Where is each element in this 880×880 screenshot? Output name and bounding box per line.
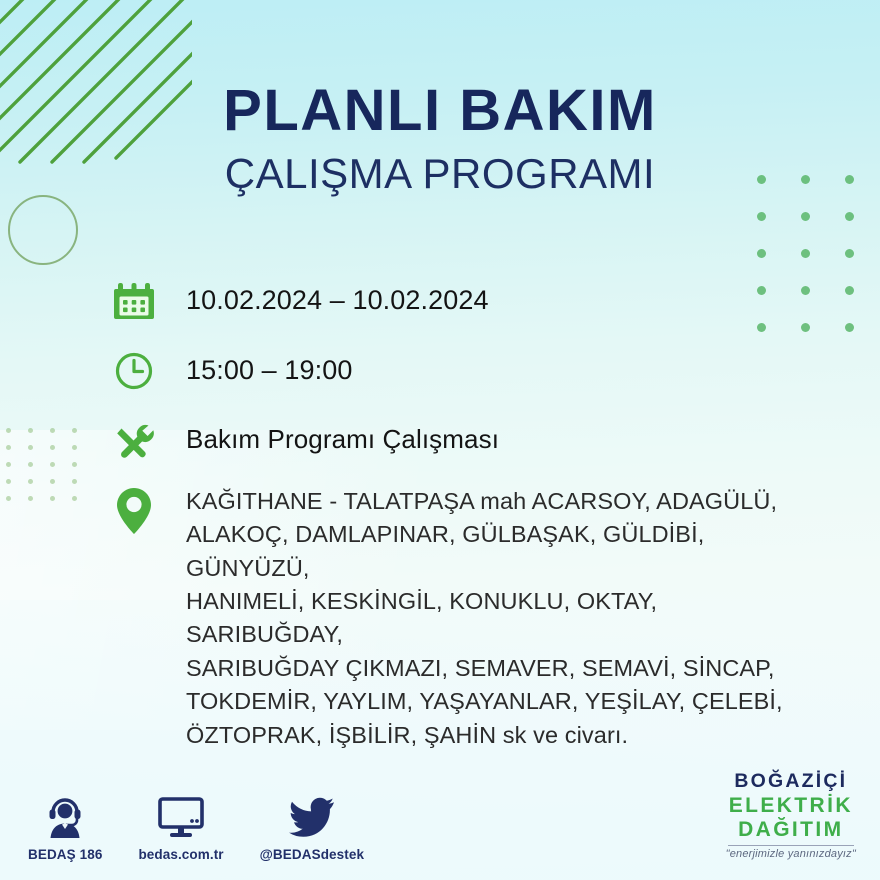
location-line: TOKDEMİR, YAYLIM, YAŞAYANLAR, YEŞİLAY, Ç… xyxy=(186,685,786,718)
clock-icon xyxy=(108,345,160,397)
info-list: 10.02.2024 – 10.02.2024 15:00 – 19:00 xyxy=(108,275,808,770)
title-main: PLANLI BAKIM xyxy=(0,82,880,140)
brand-line-3: DAĞITIM xyxy=(726,819,856,840)
location-line: SARIBUĞDAY ÇIKMAZI, SEMAVER, SEMAVİ, SİN… xyxy=(186,652,786,685)
monitor-icon xyxy=(138,793,223,839)
title-subtitle: ÇALIŞMA PROGRAMI xyxy=(0,152,880,196)
info-row-time: 15:00 – 19:00 xyxy=(108,345,808,397)
tools-icon xyxy=(108,415,160,467)
location-line: ÖZTOPRAK, İŞBİLİR, ŞAHİN sk ve civarı. xyxy=(186,719,786,752)
info-row-location: KAĞITHANE - TALATPAŞA mah ACARSOY, ADAGÜ… xyxy=(108,485,808,752)
location-line: KAĞITHANE - TALATPAŞA mah ACARSOY, ADAGÜ… xyxy=(186,485,786,518)
contact-phone[interactable]: BEDAŞ 186 xyxy=(28,793,102,862)
location-line: HANIMELİ, KESKİNGİL, KONUKLU, OKTAY, SAR… xyxy=(186,585,786,652)
circle-outline-decoration xyxy=(8,195,78,265)
contact-list: BEDAŞ 186 bedas.com.tr xyxy=(28,793,364,862)
twitter-bird-icon xyxy=(260,793,364,839)
contact-twitter-label: @BEDASdestek xyxy=(260,847,364,862)
contact-phone-label: BEDAŞ 186 xyxy=(28,847,102,862)
map-pin-icon xyxy=(108,485,160,535)
brand-divider xyxy=(728,845,854,847)
location-text: KAĞITHANE - TALATPAŞA mah ACARSOY, ADAGÜ… xyxy=(186,485,786,752)
brand-tagline: "enerjimizle yanınızdayız" xyxy=(726,849,856,860)
info-row-work-type: Bakım Programı Çalışması xyxy=(108,415,808,467)
time-range-text: 15:00 – 19:00 xyxy=(186,345,352,390)
dot-grid-left-decoration xyxy=(6,428,94,513)
date-range-text: 10.02.2024 – 10.02.2024 xyxy=(186,275,489,320)
planned-maintenance-poster: PLANLI BAKIM ÇALIŞMA PROGRAMI xyxy=(0,0,880,880)
contact-website-label: bedas.com.tr xyxy=(138,847,223,862)
contact-website[interactable]: bedas.com.tr xyxy=(138,793,223,862)
info-row-date: 10.02.2024 – 10.02.2024 xyxy=(108,275,808,327)
footer: BEDAŞ 186 bedas.com.tr xyxy=(0,767,880,872)
contact-twitter[interactable]: @BEDASdestek xyxy=(260,793,364,862)
page-title: PLANLI BAKIM ÇALIŞMA PROGRAMI xyxy=(0,82,880,196)
calendar-icon xyxy=(108,275,160,327)
brand-line-1: BOĞAZİÇİ xyxy=(726,772,856,792)
brand-logo: BOĞAZİÇİ ELEKTRİK DAĞITIM "enerjimizle y… xyxy=(726,772,856,860)
brand-line-2: ELEKTRİK xyxy=(726,795,856,816)
location-line: ALAKOÇ, DAMLAPINAR, GÜLBAŞAK, GÜLDİBİ, G… xyxy=(186,518,786,585)
support-agent-icon xyxy=(28,793,102,839)
work-type-text: Bakım Programı Çalışması xyxy=(186,415,499,459)
